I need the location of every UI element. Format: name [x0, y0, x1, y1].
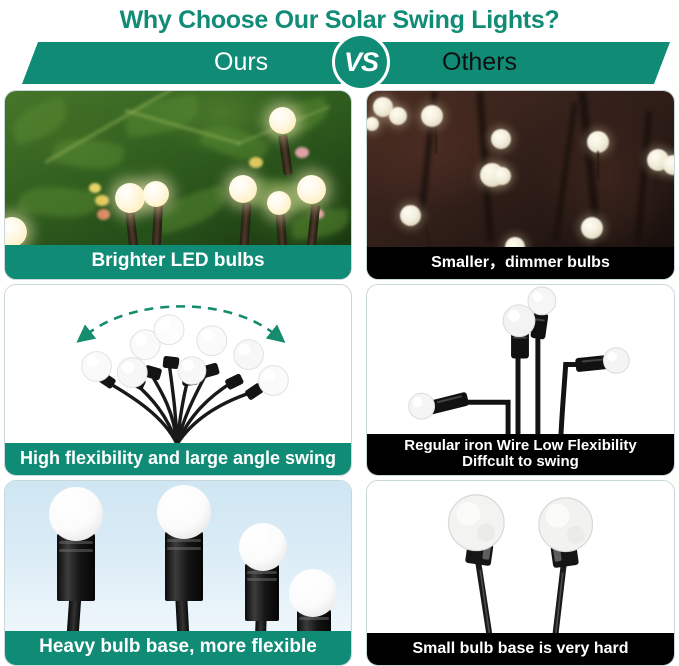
- page-title: Why Choose Our Solar Swing Lights?: [0, 0, 679, 33]
- vs-badge: VS: [332, 33, 390, 91]
- flower: [89, 183, 101, 193]
- bulb: [663, 155, 675, 175]
- bulb: [143, 181, 169, 207]
- bulb: [389, 107, 407, 125]
- bulb-stem: [239, 203, 251, 248]
- bulb-stem: [278, 135, 292, 176]
- flower: [295, 147, 309, 158]
- caption-line-2: Diffcult to swing: [369, 454, 672, 470]
- banner-others-background: [372, 42, 670, 84]
- bulb: [269, 107, 296, 134]
- bulb: [421, 105, 443, 127]
- bulb: [366, 117, 379, 131]
- bulb: [587, 131, 609, 153]
- bulb: [115, 183, 145, 213]
- panel-ours-heavy-base: Heavy bulb base, more flexible: [4, 480, 352, 666]
- panel-others-dimmer-bulbs: Smaller，dimmer bulbs: [366, 90, 675, 280]
- caption-brighter-led-bulbs: Brighter LED bulbs: [5, 245, 351, 279]
- leaf: [123, 94, 201, 138]
- comparison-grid: Brighter LED bulbs: [4, 90, 675, 666]
- leaf: [7, 96, 72, 146]
- bulb: [297, 175, 326, 204]
- panel-others-low-flexibility: Regular iron Wire Low Flexibility Diffcu…: [366, 284, 675, 476]
- panel-others-small-base: Small bulb base is very hard: [366, 480, 675, 666]
- flower: [97, 209, 110, 220]
- base-ridge: [247, 571, 277, 574]
- base-ridge: [59, 541, 93, 544]
- bulb: [581, 217, 603, 239]
- base-ridge: [167, 539, 201, 542]
- bulb: [157, 485, 211, 539]
- bulb: [229, 175, 257, 203]
- bulb: [239, 523, 287, 571]
- banner-label-ours: Ours: [214, 42, 268, 84]
- base-ridge: [299, 617, 329, 620]
- bulb: [400, 205, 421, 226]
- bulb-wire: [435, 123, 437, 153]
- bulb: [491, 129, 511, 149]
- caption-line-1: Regular iron Wire Low Flexibility: [369, 438, 672, 454]
- bulb: [49, 487, 103, 541]
- panel-ours-brighter-bulbs: Brighter LED bulbs: [4, 90, 352, 280]
- caption-small-bulb-base: Small bulb base is very hard: [367, 633, 674, 665]
- caption-smaller-dimmer-bulbs: Smaller，dimmer bulbs: [367, 247, 674, 279]
- base-ridge: [59, 549, 93, 552]
- branch: [553, 102, 577, 241]
- caption-regular-iron-wire: Regular iron Wire Low Flexibility Diffcu…: [367, 434, 674, 475]
- bulb-wire: [597, 151, 599, 179]
- banner-label-others: Others: [442, 42, 517, 84]
- bulb: [267, 191, 291, 215]
- base-ridge: [247, 578, 277, 581]
- branch: [635, 111, 652, 241]
- banner-ours-background: [22, 42, 341, 84]
- panel-ours-high-flexibility: High flexibility and large angle swing: [4, 284, 352, 476]
- vs-banner: Ours VS Others: [22, 42, 670, 84]
- flower: [95, 195, 109, 206]
- flower: [249, 157, 263, 168]
- bulb: [493, 167, 511, 185]
- caption-heavy-bulb-base: Heavy bulb base, more flexible: [5, 631, 351, 665]
- base-ridge: [167, 547, 201, 550]
- bulb: [289, 569, 337, 617]
- caption-high-flexibility: High flexibility and large angle swing: [5, 443, 351, 475]
- bulb: [4, 217, 27, 247]
- bulb-stem: [152, 203, 163, 245]
